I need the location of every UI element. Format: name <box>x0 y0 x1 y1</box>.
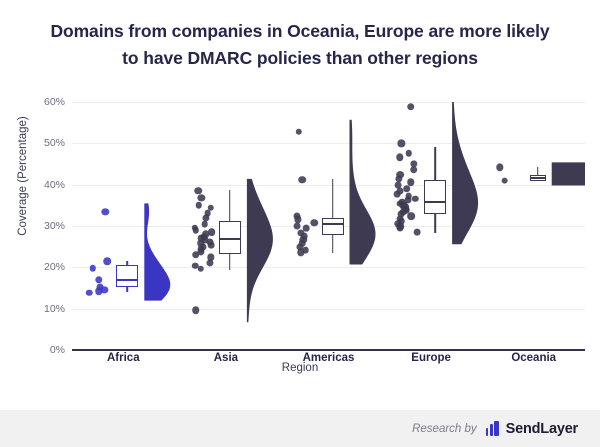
y-tick-label: 20% <box>31 261 65 273</box>
series-layer <box>72 0 585 400</box>
series-group-oceania <box>72 0 585 400</box>
y-tick-label: 50% <box>31 137 65 149</box>
chart-plot-area: Coverage (Percentage) Region 0%10%20%30%… <box>0 0 600 400</box>
footer-bar: Research by SendLayer <box>0 410 600 447</box>
y-tick-label: 30% <box>31 220 65 232</box>
sendlayer-wordmark: SendLayer <box>506 421 578 437</box>
sendlayer-bars-icon <box>486 421 501 436</box>
y-axis-label: Coverage (Percentage) <box>17 61 29 291</box>
y-tick-label: 0% <box>31 344 65 356</box>
sendlayer-logo[interactable]: SendLayer <box>486 421 578 437</box>
research-by-label: Research by <box>412 423 477 435</box>
y-tick-label: 10% <box>31 303 65 315</box>
y-axis-ticks: 0%10%20%30%40%50%60% <box>30 0 65 400</box>
y-tick-label: 40% <box>31 179 65 191</box>
y-tick-label: 60% <box>31 96 65 108</box>
violin-density <box>72 0 585 400</box>
